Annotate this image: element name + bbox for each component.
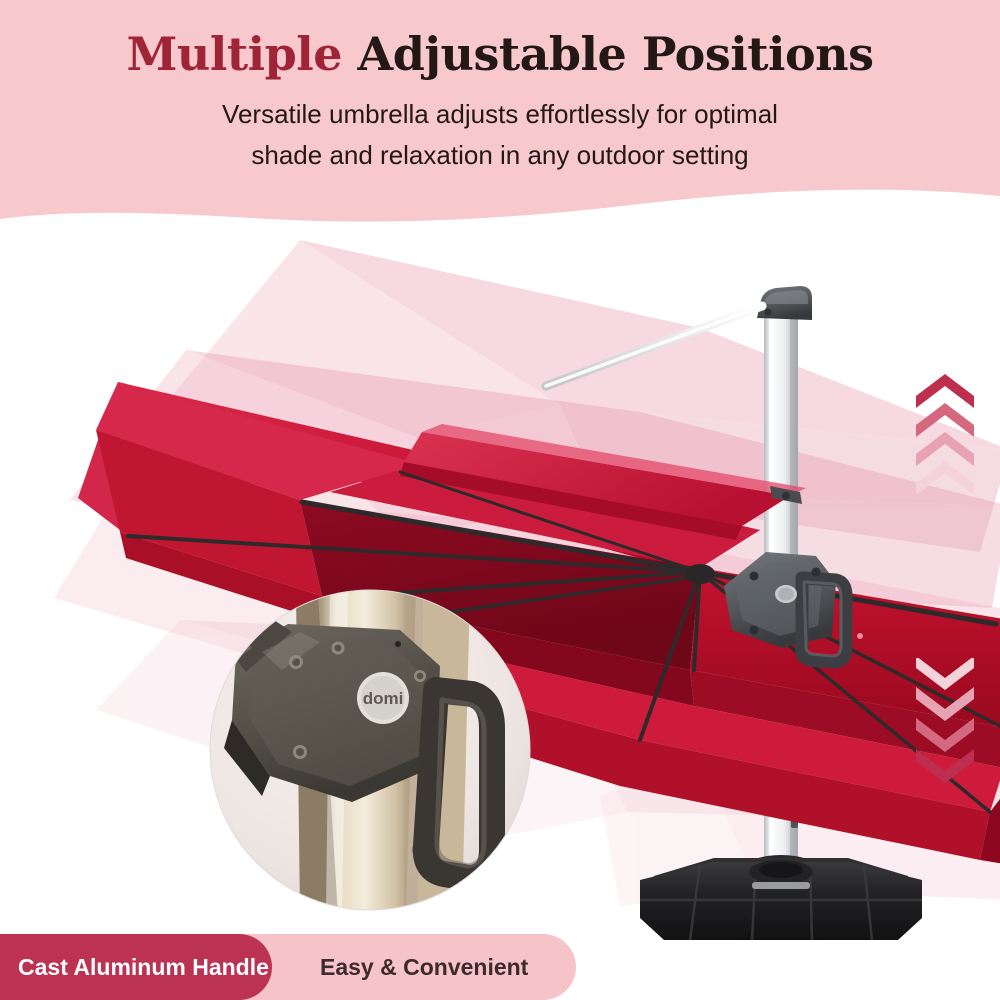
feature-badges: Easy & Convenient Cast Aluminum Handle <box>0 934 1000 1000</box>
header-text-block: Multiple Adjustable Positions Versatile … <box>0 0 1000 200</box>
chevron-down-icon-4 <box>916 749 974 783</box>
chevron-up-icon-3 <box>916 432 974 466</box>
subtitle-line-2: shade and relaxation in any outdoor sett… <box>0 135 1000 175</box>
title-accent-word: Multiple <box>127 27 342 81</box>
page-subtitle: Versatile umbrella adjusts effortlessly … <box>0 78 1000 175</box>
chevron-up-icon-4 <box>916 461 974 494</box>
canopy-rib-hub <box>685 564 715 584</box>
brand-badge-label: domi <box>363 689 404 708</box>
title-main-words: Adjustable Positions <box>342 27 873 81</box>
chevron-down-icon-2 <box>916 687 974 721</box>
badge-primary-label: Cast Aluminum Handle <box>18 954 269 981</box>
badge-cast-aluminum-handle: Cast Aluminum Handle <box>0 934 272 1000</box>
adjust-up-arrows <box>912 374 978 494</box>
adjust-down-arrows <box>912 658 978 788</box>
chevron-down-icon-3 <box>916 718 974 752</box>
page-title: Multiple Adjustable Positions <box>0 0 1000 78</box>
handle-closeup-inset: domi <box>210 590 530 914</box>
badge-secondary-label: Easy & Convenient <box>320 954 528 981</box>
product-illustration: domi <box>0 200 1000 940</box>
subtitle-line-1: Versatile umbrella adjusts effortlessly … <box>0 94 1000 134</box>
chevron-up-icon-1 <box>916 374 974 408</box>
chevron-down-icon-1 <box>916 658 974 690</box>
chevron-up-icon-2 <box>916 403 974 437</box>
product-infographic: Multiple Adjustable Positions Versatile … <box>0 0 1000 1000</box>
